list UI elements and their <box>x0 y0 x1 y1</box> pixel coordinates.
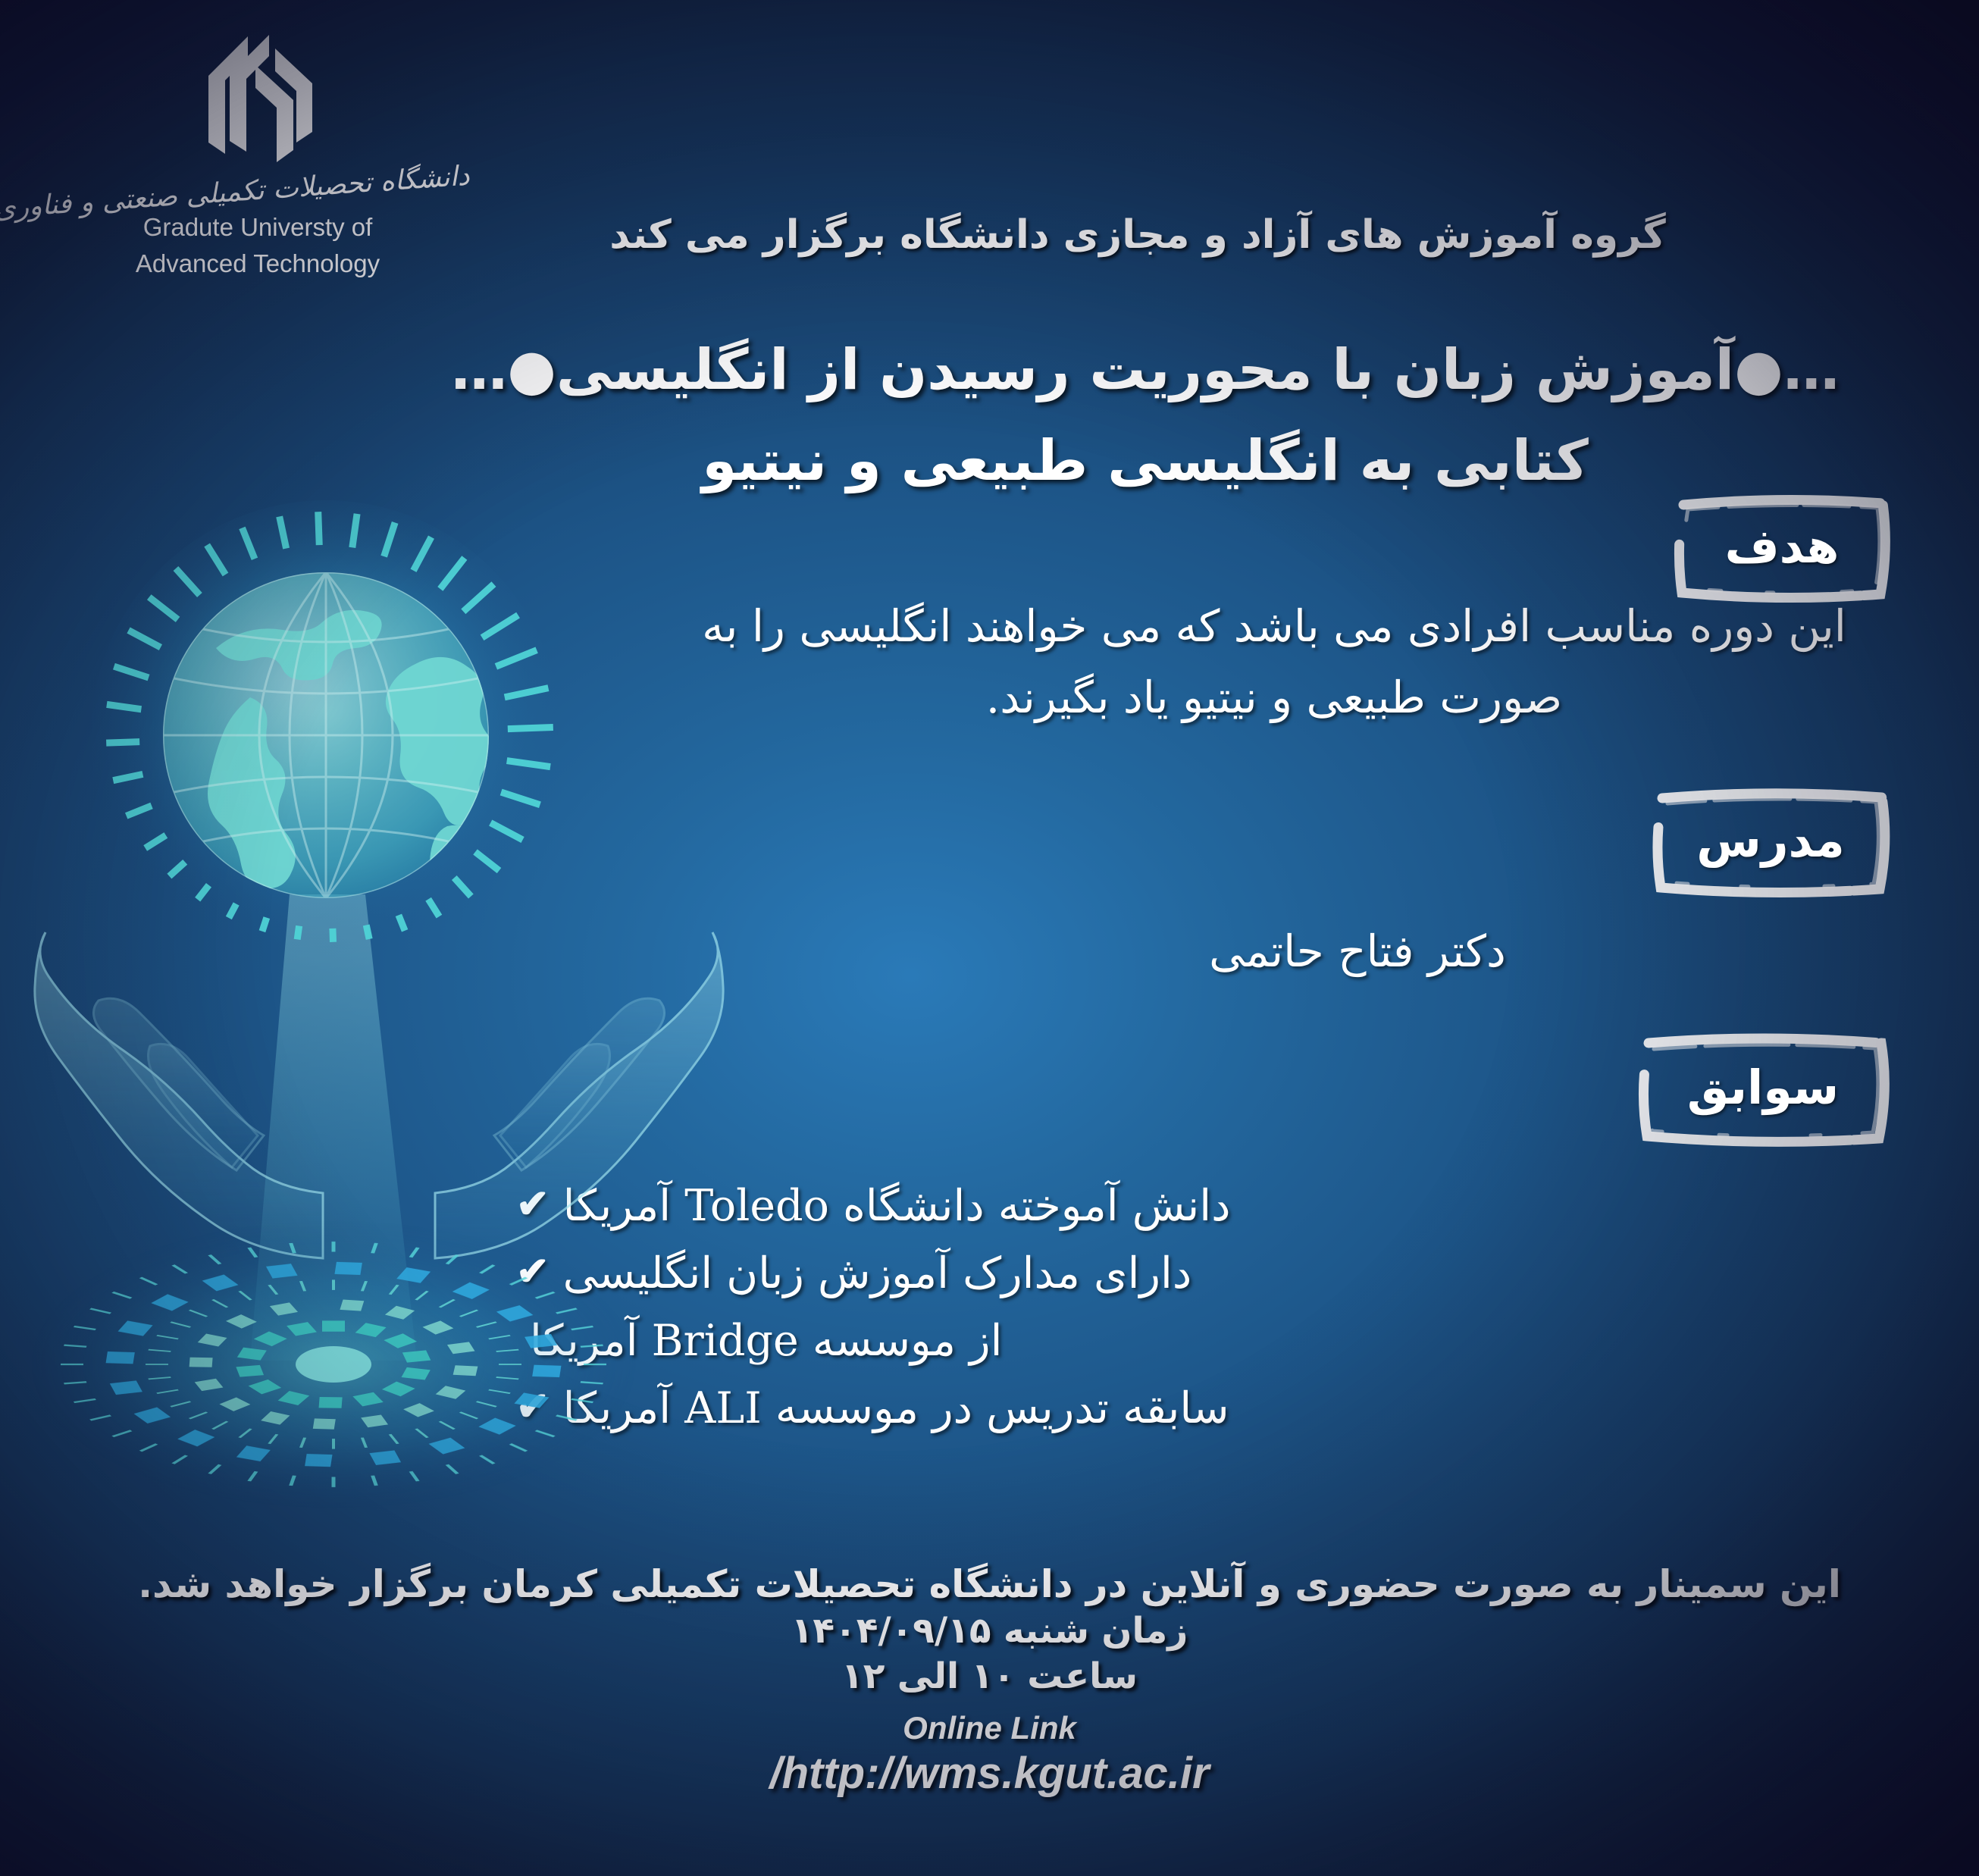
badge-teacher: مدرس <box>1646 785 1896 900</box>
footer-time: ساعت ۱۰ الی ۱۲ <box>0 1654 1979 1699</box>
poster-canvas: دانشگاه تحصیلات تکمیلی صنعتی و فناوری پی… <box>0 0 1979 1876</box>
online-link-label: Online Link <box>0 1710 1979 1746</box>
online-link-url[interactable]: /http://wms.kgut.ac.ir <box>0 1748 1979 1799</box>
university-logo-block: دانشگاه تحصیلات تکمیلی صنعتی و فناوری پی… <box>45 21 470 279</box>
badge-teacher-label: مدرس <box>1696 813 1844 872</box>
organizer-header: گروه آموزش های آزاد و مجازی دانشگاه برگز… <box>418 212 1858 258</box>
badge-goal: هدف <box>1668 491 1896 605</box>
hologram-scene-icon <box>23 470 735 1607</box>
title-line-1: …●آموزش زبان با محوریت رسیدن از انگلیسی●… <box>402 334 1888 408</box>
teacher-name: دکتر فتاح حاتمی <box>834 921 1880 982</box>
goal-description: این دوره مناسب افرادی می باشد که می خواه… <box>668 591 1880 734</box>
logo-name-english-line2: Advanced Technology <box>45 249 470 279</box>
globe-hologram-illustration <box>23 470 735 1607</box>
footer-date: زمان شنبه ۱۴۰۴/۰۹/۱۵ <box>0 1608 1979 1654</box>
badge-goal-label: هدف <box>1725 518 1840 578</box>
badge-records: سوابق <box>1630 1029 1896 1149</box>
university-arch-logo-icon <box>163 21 352 173</box>
hologram-projector-base-icon <box>30 1220 637 1508</box>
badge-records-label: سوابق <box>1687 1060 1839 1120</box>
